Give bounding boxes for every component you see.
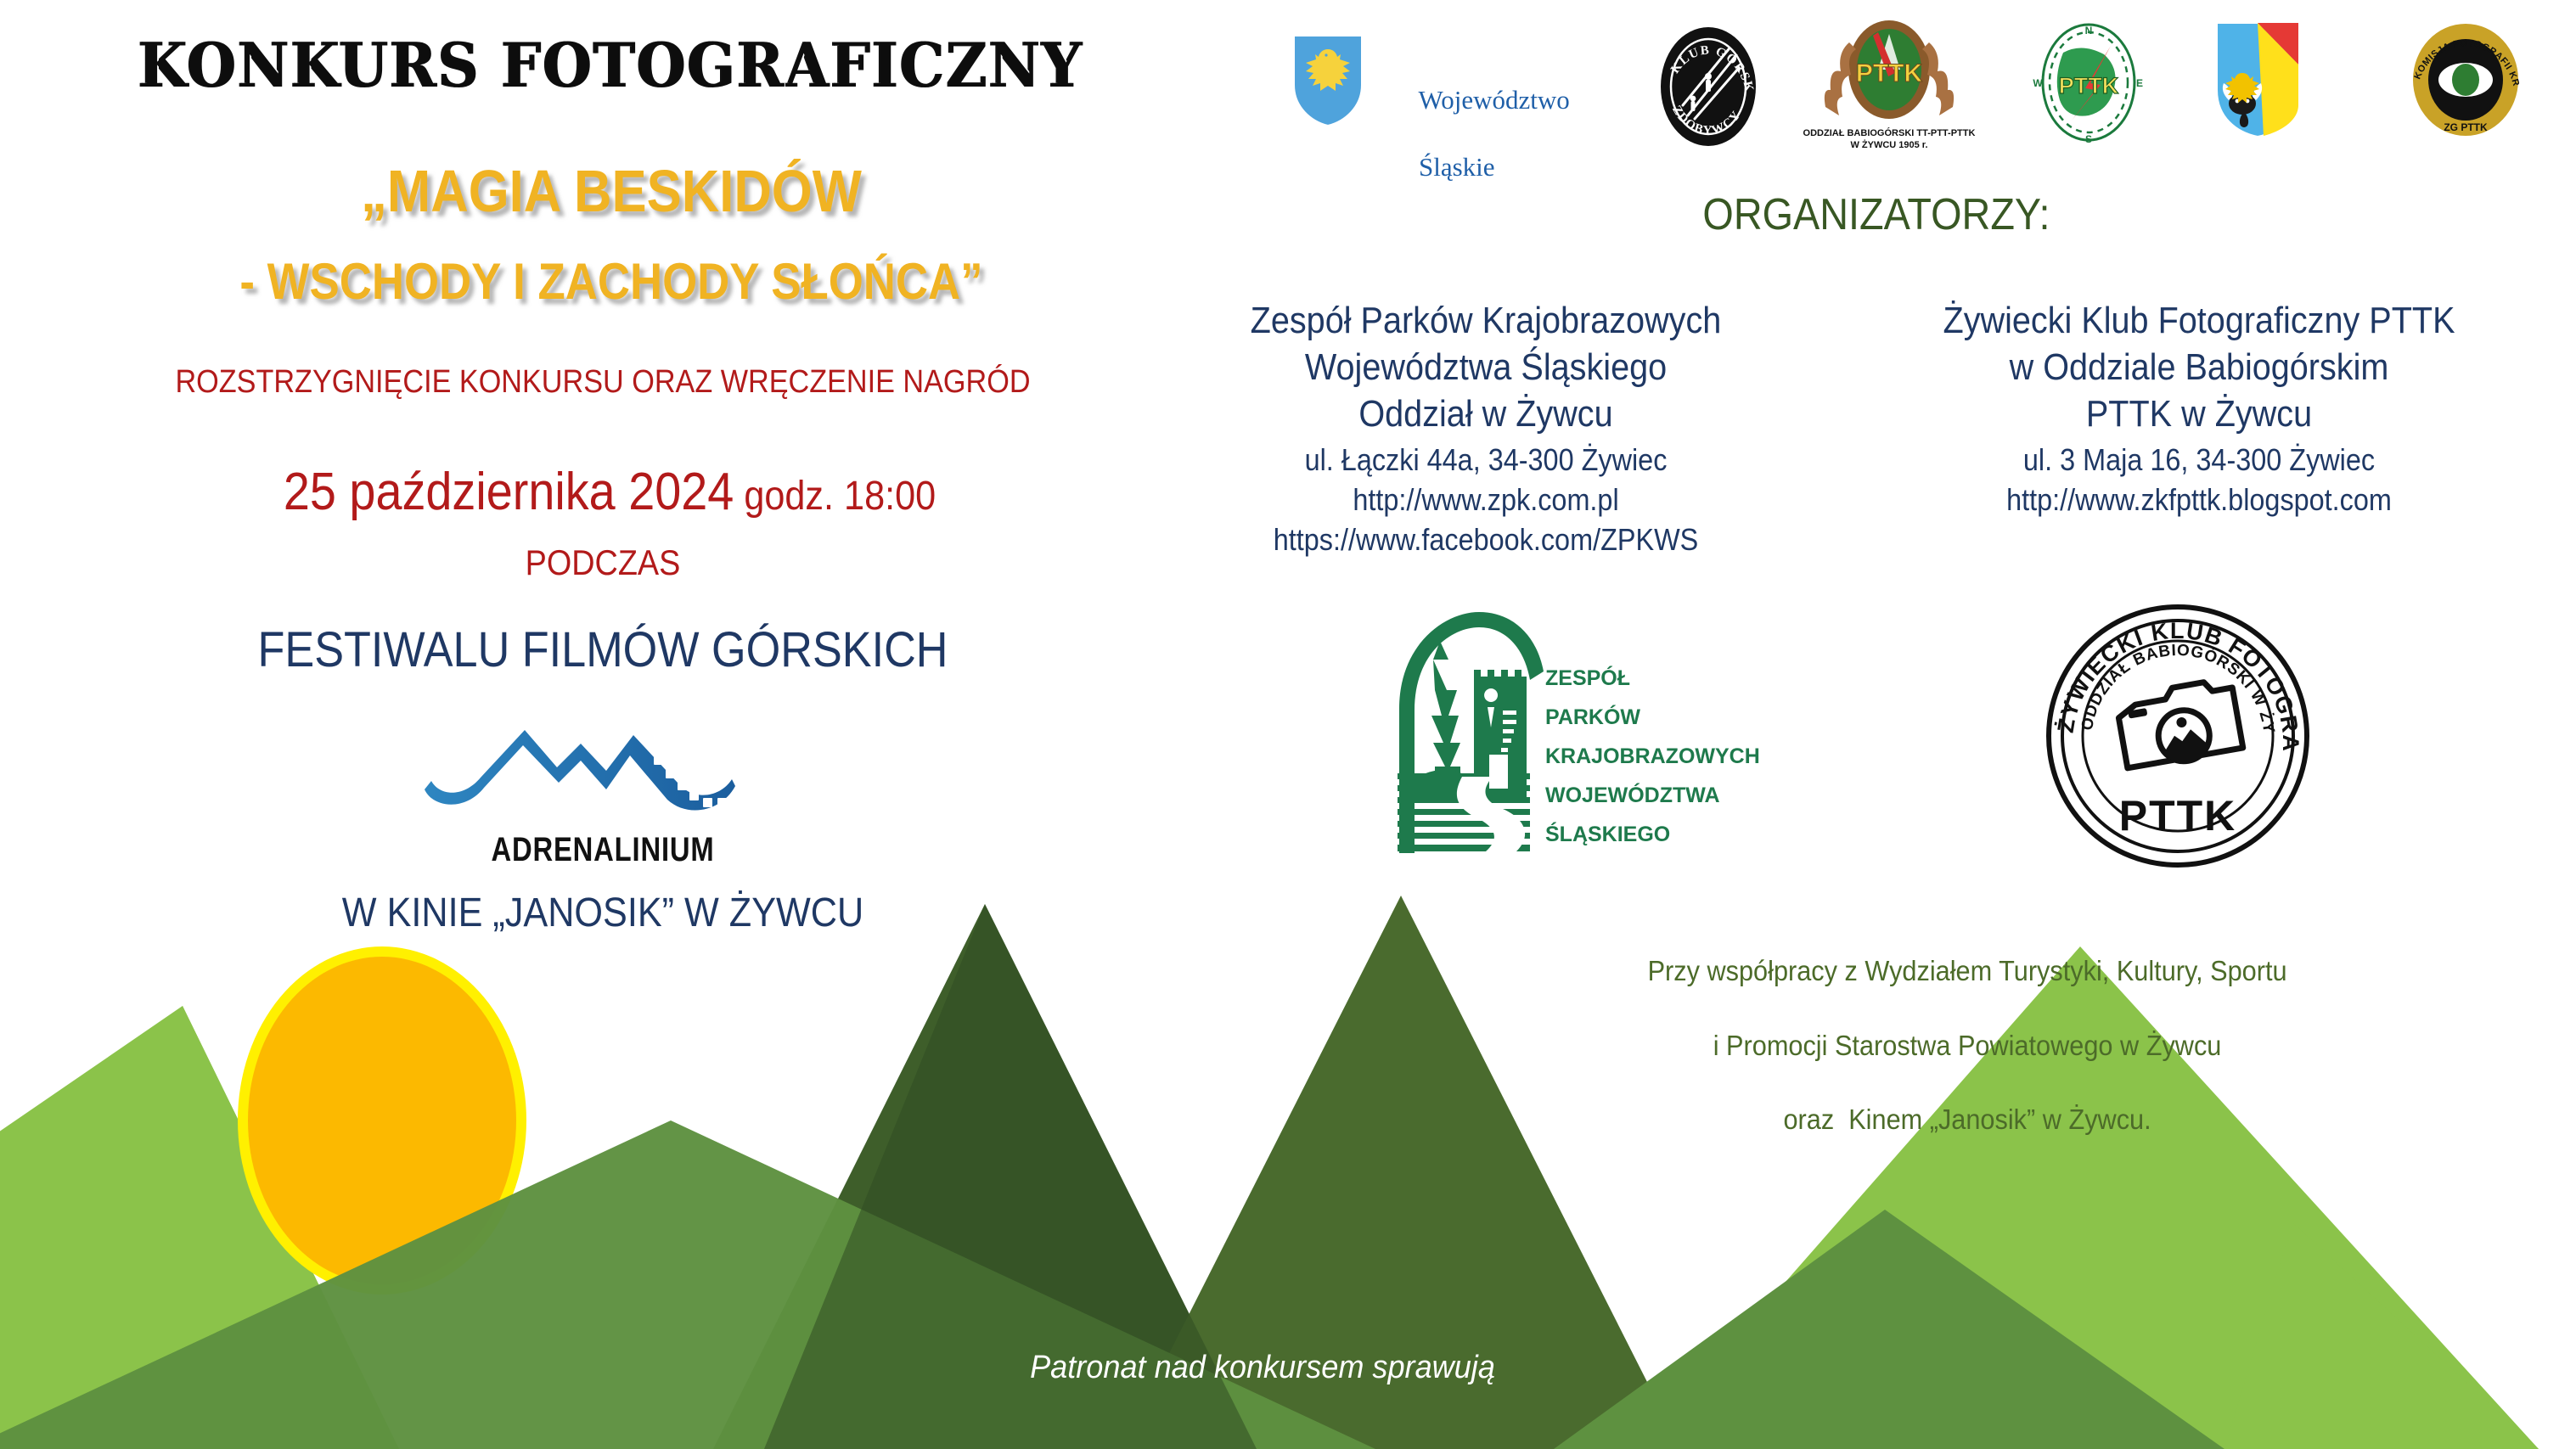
- festival-name: FESTIWALU FILMÓW GÓRSKICH: [76, 624, 1130, 677]
- adrenalinium-logo: ADRENALINIUM: [399, 730, 807, 866]
- komisja-fotografii-krajoznawczej-eye-seal-icon: KOMISJA FOTOGRAFII KRAJOZNAWCZEJ ZG PTTK: [2410, 20, 2522, 139]
- logo-zpk: ZESPÓŁ PARKÓW KRAJOBRAZOWYCH WOJEWÓDZTWA…: [1367, 607, 1808, 862]
- silesian-eagle-crest-icon: [1292, 34, 1364, 127]
- zpk-tower-and-spruce-icon: ZESPÓŁ PARKÓW KRAJOBRAZOWYCH WOJEWÓDZTWA…: [1367, 607, 1808, 857]
- event-time: godz. 18:00: [744, 474, 936, 519]
- svg-text:PTTK: PTTK: [1856, 59, 1923, 87]
- collaboration-line-2: i Promocji Starostwa Powiatowego w Żywcu: [1713, 1030, 2222, 1061]
- organizer-zpk-name-2: Województwa Śląskiego: [1188, 344, 1784, 390]
- contest-title-line-1: „MAGIA BESKIDÓW: [104, 160, 1120, 224]
- svg-text:S: S: [2085, 133, 2092, 145]
- organizer-zpk-name-3: Oddział w Żywcu: [1188, 390, 1784, 437]
- organizer-zpk-url-2[interactable]: https://www.facebook.com/ZPKWS: [1188, 520, 1784, 560]
- organizer-zkf-name-3: PTTK w Żywcu: [1893, 390, 2505, 437]
- organizer-zpk: Zespół Parków Krajobrazowych Województwa…: [1155, 297, 1817, 559]
- zpk-line-5: ŚLĄSKIEGO: [1545, 821, 1670, 846]
- zpk-line-2: PARKÓW: [1545, 704, 1640, 729]
- logo-komisja-fotografii: KOMISJA FOTOGRAFII KRAJOZNAWCZEJ ZG PTTK: [2410, 20, 2522, 143]
- zpk-line-3: KRAJOBRAZOWYCH: [1545, 744, 1760, 768]
- zywiec-county-coat-of-arms-icon: [2214, 20, 2301, 139]
- zpk-line-1: ZESPÓŁ: [1545, 665, 1630, 690]
- page-title: KONKURS FOTOGRAFICZNY: [80, 32, 1142, 98]
- logo-zywiec-crest: [2214, 20, 2301, 143]
- oddzial-babiogorski-line-1: ODDZIAŁ BABIOGÓRSKI TT-PTT-PTTK: [1803, 127, 1976, 138]
- organizer-zkf-url-1[interactable]: http://www.zkfpttk.blogspot.com: [1893, 480, 2505, 520]
- collaboration-note: Przy współpracy z Wydziałem Turystyki, K…: [1479, 915, 2427, 1176]
- event-date: 25 października 2024: [284, 463, 734, 521]
- adrenalinium-wordmark: ADRENALINIUM: [436, 831, 770, 869]
- logo-oddzial-babiogorski: PTTK ODDZIAŁ BABIOGÓRSKI TT-PTT-PTTK W Ż…: [1800, 17, 1978, 157]
- venue-line: W KINIE „JANOSIK” W ŻYWCU: [76, 891, 1130, 935]
- patronage-heading: Patronat nad konkursem sprawują: [730, 1346, 1795, 1390]
- contest-title-line-2: - WSCHODY I ZACHODY SŁOŃCA”: [88, 255, 1134, 310]
- svg-text:N: N: [2085, 25, 2093, 37]
- event-date-row: 25 października 2024 godz. 18:00: [76, 450, 1130, 536]
- organizer-zkf-address: ul. 3 Maja 16, 34-300 Żywiec: [1893, 441, 2505, 480]
- pttk-compass-poland-icon: PTTK N S W E: [2029, 19, 2148, 146]
- logo-pttk-compass: PTTK N S W E: [2029, 19, 2148, 150]
- zpk-line-4: WOJEWÓDZTWA: [1545, 782, 1720, 807]
- pttk-compass-text: PTTK: [2059, 73, 2119, 98]
- poster-canvas: KONKURS FOTOGRAFICZNY „MAGIA BESKIDÓW - …: [0, 0, 2576, 1449]
- organizer-zkf: Żywiecki Klub Fotograficzny PTTK w Oddzi…: [1859, 297, 2539, 520]
- subtitle-award-ceremony: ROZSTRZYGNIĘCIE KONKURSU ORAZ WRĘCZENIE …: [76, 365, 1130, 400]
- pttk-babiogorski-wreath-badge-icon: PTTK ODDZIAŁ BABIOGÓRSKI TT-PTT-PTTK W Ż…: [1800, 17, 1978, 153]
- logo-wojewodztwo-slaskie: [1292, 34, 1364, 132]
- organizer-zpk-url-1[interactable]: http://www.zpk.com.pl: [1188, 480, 1784, 520]
- svg-text:E: E: [2136, 77, 2143, 89]
- svg-text:ZG PTTK: ZG PTTK: [2444, 121, 2488, 133]
- klub-gorski-zdobywcy-seal-icon: KLUB GÓRSKI ZDOBYWCY: [1657, 24, 1759, 149]
- organizer-zkf-name-2: w Oddziale Babiogórskim: [1893, 344, 2505, 390]
- logo-zkf-pttk: ŻYWIECKI KLUB FOTOGRAFICZNY ODDZIAŁ BABI…: [2038, 599, 2318, 877]
- zkf-center-text: PTTK: [2119, 792, 2237, 840]
- zkf-pttk-camera-seal-icon: ŻYWIECKI KLUB FOTOGRAFICZNY ODDZIAŁ BABI…: [2038, 599, 2318, 873]
- organizers-heading: ORGANIZATORZY:: [1533, 191, 2220, 239]
- collaboration-line-3: oraz Kinem „Janosik” w Żywcu.: [1783, 1104, 2151, 1135]
- mountain-film-strip-icon: [399, 730, 807, 823]
- logo-klub-gorski-zdobywcy: KLUB GÓRSKI ZDOBYWCY: [1657, 24, 1759, 154]
- oddzial-babiogorski-line-2: W ŻYWCU 1905 r.: [1850, 139, 1927, 150]
- svg-text:W: W: [2033, 77, 2043, 89]
- organizer-zkf-name-1: Żywiecki Klub Fotograficzny PTTK: [1893, 297, 2505, 344]
- collaboration-line-1: Przy współpracy z Wydziałem Turystyki, K…: [1648, 955, 2287, 986]
- patronage-block: Patronat nad konkursem sprawują ✓Komisja…: [730, 1261, 1795, 1449]
- organizer-zpk-name-1: Zespół Parków Krajobrazowych: [1188, 297, 1784, 344]
- organizer-zpk-address: ul. Łączki 44a, 34-300 Żywiec: [1188, 441, 1784, 480]
- during-label: PODCZAS: [76, 543, 1130, 581]
